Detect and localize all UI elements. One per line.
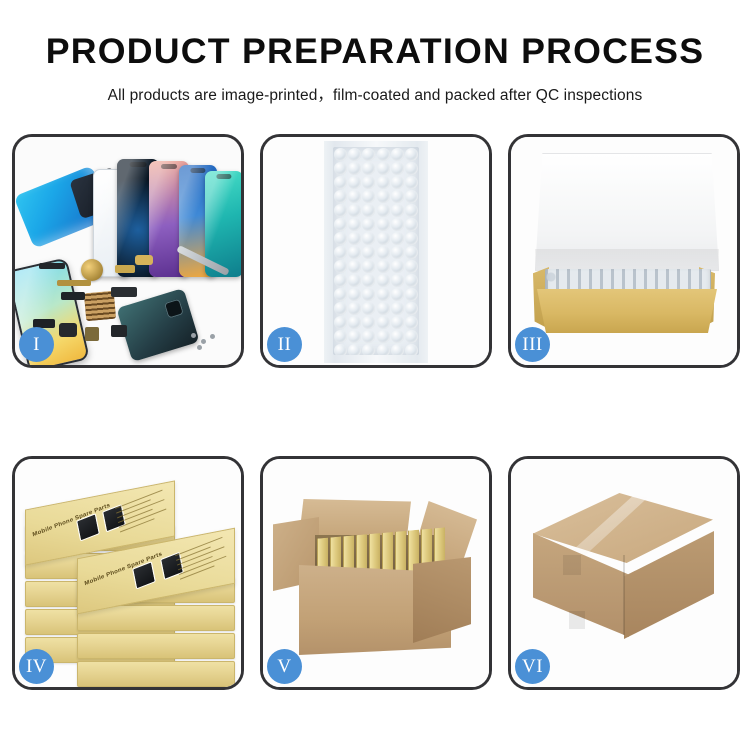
bubble <box>362 260 375 273</box>
spare-part-icon <box>59 323 77 337</box>
bubble <box>405 176 418 189</box>
flex-cable-icon <box>115 265 135 273</box>
bubble <box>405 218 418 231</box>
step-badge-5: V <box>267 649 302 684</box>
page-subtitle: All products are image-printed，film-coat… <box>0 83 750 105</box>
bubble <box>348 344 361 356</box>
bubble <box>334 316 347 329</box>
bubble <box>377 204 390 217</box>
bubble <box>377 218 390 231</box>
phone-back-housing-icon <box>116 288 199 362</box>
bubble <box>391 316 404 329</box>
bubble <box>348 288 361 301</box>
bubble <box>348 204 361 217</box>
bubble <box>391 148 404 161</box>
bubble <box>362 204 375 217</box>
bubble <box>405 246 418 259</box>
bubble <box>377 302 390 315</box>
page-title: PRODUCT PREPARATION PROCESS <box>0 34 750 71</box>
bubble <box>362 190 375 203</box>
bubble <box>334 148 347 161</box>
bubble <box>348 218 361 231</box>
bubble <box>362 344 375 356</box>
bubble <box>362 232 375 245</box>
bubble-wrap-grid <box>333 147 419 355</box>
step-badge-2: II <box>267 327 302 362</box>
box-front-icon <box>537 289 717 333</box>
flex-cable-icon <box>57 280 91 286</box>
bubble <box>348 274 361 287</box>
bubble <box>348 190 361 203</box>
bubble <box>377 260 390 273</box>
bubble <box>377 246 390 259</box>
bubble <box>405 260 418 273</box>
step-image-4: Mobile Phone Spare Parts Mobile Phone Sp… <box>15 459 241 687</box>
bubble <box>405 274 418 287</box>
bubble <box>334 260 347 273</box>
bubble <box>377 190 390 203</box>
product-preparation-infographic: PRODUCT PREPARATION PROCESS All products… <box>0 0 750 750</box>
bubble <box>377 274 390 287</box>
box-spec-lines <box>175 537 229 587</box>
bubble <box>391 288 404 301</box>
bubble <box>391 218 404 231</box>
bubble <box>405 316 418 329</box>
bubble <box>405 288 418 301</box>
spare-part-icon <box>39 263 65 269</box>
bubble <box>334 274 347 287</box>
bubble <box>377 162 390 175</box>
flex-cable-icon <box>135 255 153 265</box>
bubble <box>391 176 404 189</box>
step-panel-6: VI <box>508 456 740 690</box>
step-panel-3: III <box>508 134 740 368</box>
bubble <box>391 274 404 287</box>
step-image-1 <box>15 137 241 365</box>
bubble <box>334 232 347 245</box>
bubble <box>334 302 347 315</box>
step-image-5 <box>263 459 489 687</box>
bubble <box>348 316 361 329</box>
bubble <box>334 330 347 343</box>
bubble <box>377 176 390 189</box>
bubble <box>348 246 361 259</box>
bubble <box>377 344 390 356</box>
bubble <box>334 246 347 259</box>
bubble <box>405 302 418 315</box>
step-badge-6: VI <box>515 649 550 684</box>
step-image-6 <box>511 459 737 687</box>
bubble <box>334 176 347 189</box>
bubble <box>405 232 418 245</box>
bubble <box>391 344 404 356</box>
step-panel-2: II <box>260 134 492 368</box>
bubble <box>405 148 418 161</box>
step-image-2 <box>263 137 489 365</box>
bubble <box>391 330 404 343</box>
box-spec-lines <box>115 490 169 540</box>
bubble <box>391 246 404 259</box>
step-badge-1: I <box>19 327 54 362</box>
bubble <box>362 162 375 175</box>
bubble <box>362 274 375 287</box>
bubble <box>377 148 390 161</box>
bubble <box>348 330 361 343</box>
bubble <box>348 162 361 175</box>
bubble <box>362 218 375 231</box>
bubble <box>391 232 404 245</box>
steps-grid: I II III <box>12 134 739 690</box>
bubble <box>362 316 375 329</box>
bubble <box>348 302 361 315</box>
spare-part-icon <box>111 325 127 337</box>
bubble <box>391 204 404 217</box>
step-badge-4: IV <box>19 649 54 684</box>
step-panel-1: I <box>12 134 244 368</box>
bubble <box>362 330 375 343</box>
spare-part-icon <box>61 292 85 300</box>
step-panel-4: Mobile Phone Spare Parts Mobile Phone Sp… <box>12 456 244 690</box>
bubble <box>405 330 418 343</box>
bubble <box>348 260 361 273</box>
bubble <box>348 148 361 161</box>
bubble <box>405 344 418 356</box>
bubble <box>362 302 375 315</box>
bubble <box>362 246 375 259</box>
bubble <box>405 190 418 203</box>
step-image-3 <box>511 137 737 365</box>
header: PRODUCT PREPARATION PROCESS All products… <box>0 0 750 105</box>
bubble <box>334 288 347 301</box>
bubble <box>334 204 347 217</box>
bubble <box>405 162 418 175</box>
bubble <box>334 190 347 203</box>
box-stack: Mobile Phone Spare Parts Mobile Phone Sp… <box>21 481 241 681</box>
bubble <box>362 176 375 189</box>
bubble <box>391 302 404 315</box>
bubble <box>391 162 404 175</box>
bubble <box>391 260 404 273</box>
bubble <box>405 204 418 217</box>
screws-icon <box>191 333 217 349</box>
bubble <box>391 190 404 203</box>
bubble <box>334 344 347 356</box>
bubble <box>362 148 375 161</box>
bubble <box>377 330 390 343</box>
bubble <box>377 288 390 301</box>
step-panel-5: V <box>260 456 492 690</box>
bubble <box>334 218 347 231</box>
step-badge-3: III <box>515 327 550 362</box>
bubble <box>377 316 390 329</box>
speaker-part-icon <box>81 259 103 281</box>
bubble <box>362 288 375 301</box>
bubble <box>348 232 361 245</box>
bubble <box>334 162 347 175</box>
bubble <box>377 232 390 245</box>
spare-part-icon <box>85 327 99 341</box>
bubble <box>348 176 361 189</box>
flex-cable-icon <box>111 287 137 297</box>
